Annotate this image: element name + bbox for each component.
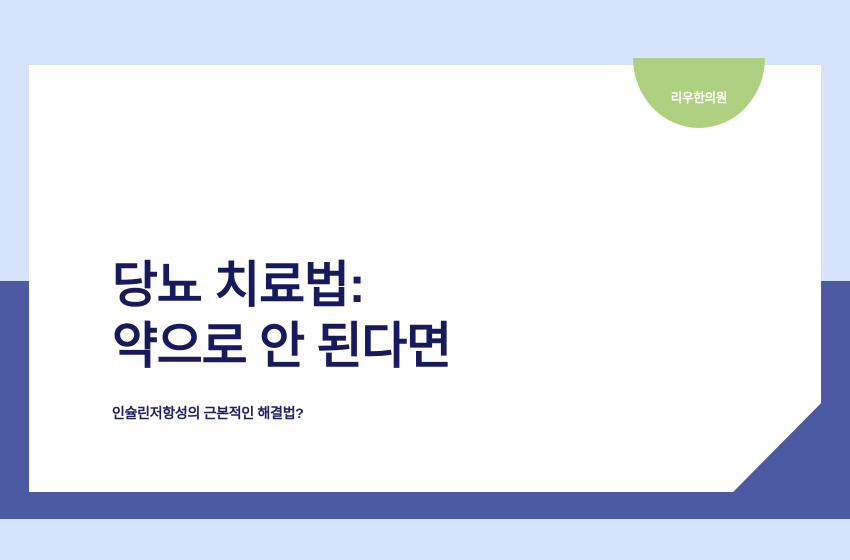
clinic-badge-label: 리우한의원 xyxy=(671,87,728,106)
headline-block: 당뇨 치료법: 약으로 안 된다면 인슐린저항성의 근본적인 해결법? xyxy=(112,255,752,423)
title-line-2: 약으로 안 된다면 xyxy=(112,316,752,377)
white-content-card: 당뇨 치료법: 약으로 안 된다면 인슐린저항성의 근본적인 해결법? 당뇨 진… xyxy=(29,65,821,492)
page-title: 당뇨 치료법: 약으로 안 된다면 xyxy=(112,255,752,377)
subtitle: 인슐린저항성의 근본적인 해결법? xyxy=(112,403,752,423)
footer-phone-number[interactable]: 02-2038-3420 xyxy=(112,517,229,537)
poster-canvas: 당뇨 치료법: 약으로 안 된다면 인슐린저항성의 근본적인 해결법? 당뇨 진… xyxy=(0,0,850,560)
title-line-1: 당뇨 치료법: xyxy=(112,255,752,316)
